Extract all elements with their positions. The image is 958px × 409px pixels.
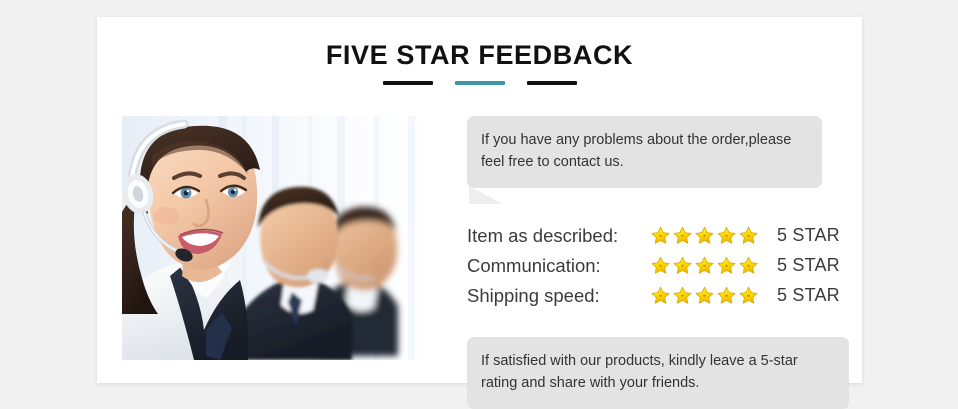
rating-label: Item as described: xyxy=(467,225,651,247)
underline-segment-accent xyxy=(455,81,505,85)
contact-notice-text: If you have any problems about the order… xyxy=(481,132,791,170)
star-icon xyxy=(717,256,736,275)
star-icon xyxy=(695,286,714,305)
ratings-list: Item as described: 5 STAR Communication: xyxy=(467,221,852,311)
rating-row: Item as described: 5 STAR xyxy=(467,221,852,251)
star-icon xyxy=(673,286,692,305)
support-team-photo xyxy=(122,116,440,360)
feedback-card: FIVE STAR FEEDBACK xyxy=(97,17,862,383)
star-rating xyxy=(651,286,777,305)
satisfaction-notice-bubble: If satisfied with our products, kindly l… xyxy=(467,337,849,409)
star-rating xyxy=(651,226,777,245)
star-icon xyxy=(717,286,736,305)
star-icon xyxy=(673,226,692,245)
rating-value: 5 STAR xyxy=(777,225,840,246)
rating-label: Shipping speed: xyxy=(467,285,651,307)
rating-row: Shipping speed: 5 STAR xyxy=(467,281,852,311)
star-icon xyxy=(739,286,758,305)
page-title: FIVE STAR FEEDBACK xyxy=(97,40,862,71)
star-icon xyxy=(651,256,670,275)
star-icon xyxy=(651,226,670,245)
star-icon xyxy=(673,256,692,275)
star-icon xyxy=(739,226,758,245)
star-icon xyxy=(717,226,736,245)
star-icon xyxy=(695,226,714,245)
rating-value: 5 STAR xyxy=(777,255,840,276)
star-icon xyxy=(651,286,670,305)
feedback-banner: FIVE STAR FEEDBACK xyxy=(0,0,958,400)
rating-label: Communication: xyxy=(467,255,651,277)
rating-value: 5 STAR xyxy=(777,285,840,306)
satisfaction-notice-text: If satisfied with our products, kindly l… xyxy=(481,353,798,391)
contact-notice-bubble: If you have any problems about the order… xyxy=(467,116,822,188)
star-rating xyxy=(651,256,777,275)
underline-segment-right xyxy=(527,81,577,85)
rating-row: Communication: 5 STAR xyxy=(467,251,852,281)
feedback-content: If you have any problems about the order… xyxy=(467,116,852,409)
star-icon xyxy=(739,256,758,275)
star-icon xyxy=(695,256,714,275)
underline-segment-left xyxy=(383,81,433,85)
title-underline-group xyxy=(97,81,862,85)
